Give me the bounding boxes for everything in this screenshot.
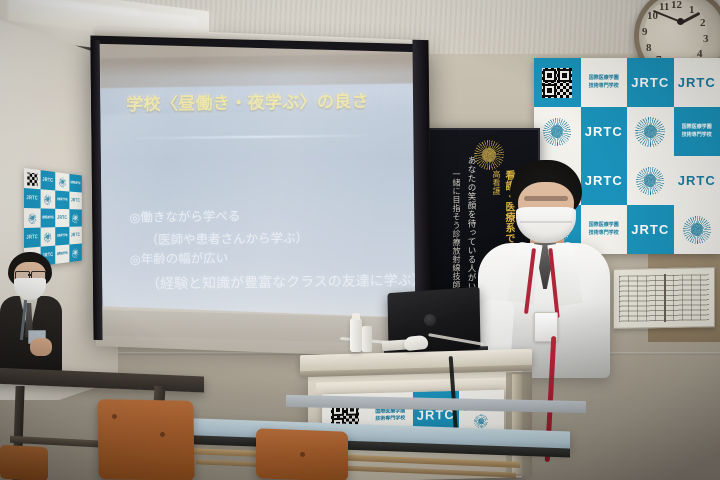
jrtc-wordmark: JRTC	[26, 234, 38, 240]
school-line-1: 国際医療学園	[589, 222, 619, 230]
banner-cell-brand: JRTC	[674, 156, 720, 205]
school-line-2: 技術専門学校	[375, 415, 405, 423]
banner-cell-brand: JRTC	[627, 58, 674, 107]
banner-cell-text: 国際医療学園	[69, 174, 82, 193]
banner-cell-text: 国際医療学園	[40, 208, 55, 227]
slide-bullet-1-sub: （医師や患者さんから学ぶ）	[146, 227, 309, 248]
wheel-emblem-icon	[59, 177, 66, 188]
clock-numeral: 12	[671, 0, 682, 11]
banner-cell-wheel	[627, 107, 674, 156]
clock-numeral: 3	[703, 34, 709, 45]
slide-band-upper	[100, 53, 416, 88]
banner-cell-brand: JRTC	[674, 58, 720, 107]
banner-cell-wheel	[40, 227, 55, 247]
slide-title: 学校〈昼働き・夜学ぶ〉の良さ	[126, 86, 406, 115]
hand-sanitizer-bottle[interactable]	[350, 318, 362, 352]
clock-numeral: 9	[642, 27, 648, 38]
school-line-2: 技術専門学校	[589, 230, 619, 238]
clock-center-pin	[677, 18, 684, 25]
banner-cell-wheel	[534, 107, 581, 156]
wheel-emblem-icon	[72, 213, 79, 223]
wall-schedule-sheet	[613, 267, 715, 329]
schedule-divider	[664, 274, 666, 322]
clock-numeral: 8	[646, 43, 652, 54]
banner-cell-text: 技術専門学校	[55, 190, 69, 209]
wheel-emblem-icon	[474, 414, 488, 428]
banner-cell-brand: JRTC	[581, 107, 628, 156]
wheel-emblem-icon	[44, 194, 52, 205]
poster-gold-line-2: 高看護	[491, 170, 502, 195]
slide-divider-rule	[133, 134, 377, 139]
jrtc-wordmark: JRTC	[631, 75, 669, 90]
poster-white-line-2: 一緒に目指そう診療放射線技師	[451, 170, 462, 289]
chair-hole	[160, 432, 165, 437]
wheel-emblem-icon	[636, 167, 664, 195]
chair-hole	[112, 414, 117, 419]
computer-mouse[interactable]	[403, 335, 428, 351]
school-line-1: 国際医療学園	[42, 216, 53, 220]
wheel-emblem-icon	[635, 117, 665, 147]
jrtc-wordmark: JRTC	[631, 222, 669, 237]
face-mask-fold	[520, 221, 572, 223]
chair-hole	[300, 452, 305, 457]
school-line-2: 技術専門学校	[589, 83, 619, 91]
clock-numeral: 11	[659, 2, 669, 13]
slide-bullet-2-sub: （経験と知識が豊富なクラスの友達に学ぶ）	[146, 270, 418, 294]
jrtc-wordmark: JRTC	[26, 195, 38, 201]
laptop-logo-icon	[424, 314, 436, 326]
lectern-leg	[512, 374, 522, 474]
jrtc-wordmark: JRTC	[678, 75, 716, 90]
school-line-2: 技術専門学校	[682, 132, 712, 140]
clock-numeral: 2	[700, 18, 706, 29]
banner-cell-wheel	[627, 156, 674, 205]
banner-cell-brand: JRTC	[55, 209, 69, 227]
banner-cell-wheel	[674, 205, 720, 254]
classroom-presentation-photo: 12 1 2 3 4 5 6 7 8 9 10 11 国際医療学園 技術専門学校	[0, 0, 720, 480]
banner-cell-brand: JRTC	[581, 156, 628, 205]
banner-cell-brand: JRTC	[69, 192, 82, 210]
banner-cell-text: 国際医療学園 技術専門学校	[581, 58, 628, 107]
banner-cell-text: 国際医療学園	[55, 244, 69, 263]
banner-cell-wheel	[55, 172, 69, 191]
wheel-emblem-icon	[683, 216, 711, 244]
poster-white-line: あなたの笑顔を待っている人がいる	[466, 156, 478, 300]
banner-cell-brand: JRTC	[24, 188, 40, 208]
banner-cell-brand: JRTC	[24, 228, 40, 248]
wheel-emblem-icon	[44, 231, 52, 242]
banner-cell-text: 国際医療学園 技術専門学校	[674, 107, 720, 156]
banner-cell-brand: JRTC	[69, 227, 82, 245]
banner-cell-wheel	[69, 244, 82, 263]
school-line-1: 国際医療学園	[57, 252, 67, 257]
banner-cell-wheel	[40, 189, 55, 209]
projected-slide: 学校〈昼働き・夜学ぶ〉の良さ ◎働きながら学べる （医師や患者さんから学ぶ） ◎…	[100, 44, 419, 318]
sanitizer-cap	[352, 313, 360, 320]
slide-bullet-2: ◎年齢の幅が広い	[130, 247, 229, 267]
school-line-2: 技術専門学校	[57, 234, 67, 238]
slide-bullet-1: ◎働きながら学べる	[129, 205, 240, 226]
school-line-2: 技術専門学校	[57, 198, 67, 202]
banner-cell-text: 技術専門学校	[55, 227, 69, 246]
school-line-1: 国際医療学園	[71, 181, 81, 185]
jrtc-wordmark: JRTC	[71, 198, 80, 204]
jrtc-wordmark: JRTC	[57, 215, 67, 220]
secondary-bottle[interactable]	[362, 326, 372, 352]
chair-backrest	[97, 399, 194, 480]
wheel-emblem-icon	[543, 118, 571, 146]
jrtc-wordmark: JRTC	[42, 177, 53, 184]
school-line-1: 国際医療学園	[589, 75, 619, 83]
banner-cell-wheel	[69, 209, 82, 227]
wheel-emblem-icon	[72, 248, 79, 258]
jrtc-wordmark: JRTC	[71, 233, 80, 239]
chair-backrest	[0, 445, 48, 480]
banner-cell-wheel	[24, 208, 40, 228]
glasses-bridge	[28, 274, 32, 276]
audience-man-hand	[30, 338, 52, 356]
school-line-1: 国際医療学園	[682, 124, 712, 132]
banner-cell-qr	[24, 168, 40, 189]
banner-cell-brand: JRTC	[627, 205, 674, 254]
jrtc-wordmark: JRTC	[585, 124, 623, 139]
wheel-emblem-icon	[474, 140, 504, 170]
presenter-brow	[524, 196, 568, 201]
banner-cell-qr	[534, 58, 581, 107]
jrtc-wordmark: JRTC	[678, 173, 716, 188]
banner-cell-brand: JRTC	[40, 170, 55, 190]
wheel-emblem-icon	[28, 213, 37, 224]
jrtc-wordmark: JRTC	[585, 173, 623, 188]
